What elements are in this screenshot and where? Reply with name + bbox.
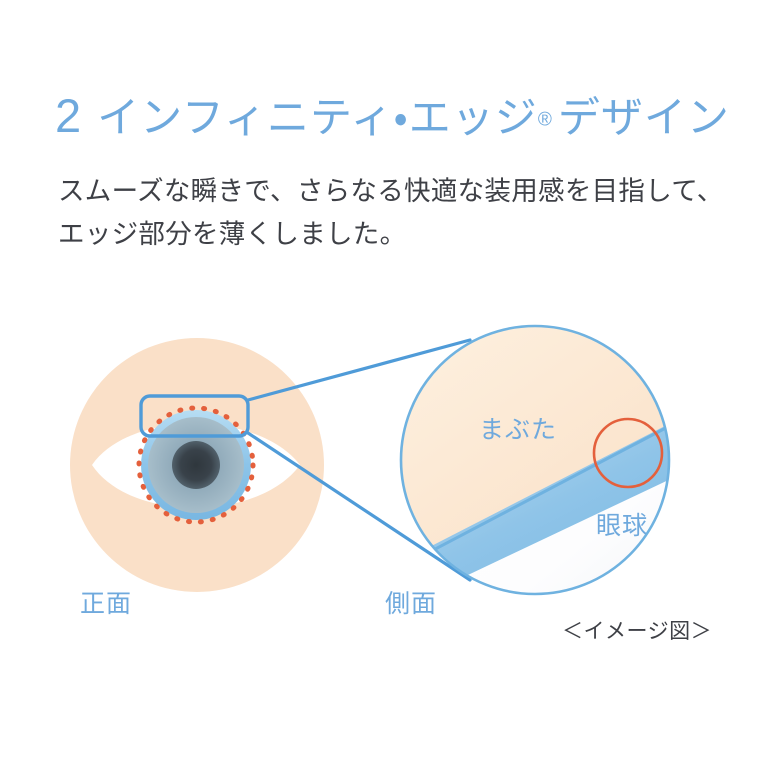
figure-caption: ＜イメージ図＞ [562,621,712,642]
pupil [172,441,220,489]
body-copy: スムーズな瞬きで、さらなる快適な装用感を目指して、 エッジ部分を薄くしました。 [58,170,698,256]
section-title-tail: デザイン [558,94,730,141]
registered-trademark-icon: ® [538,110,552,131]
side-view-label: 側面 [385,592,437,617]
infographic-page: 2 インフィニティ・エッジ®デザイン スムーズな瞬きで、さらなる快適な装用感を目… [0,0,770,770]
eyelid-label: まぶた [479,416,557,444]
section-title: インフィニティ・エッジ®デザイン [81,97,730,139]
front-view-group [70,338,324,592]
page-title: 2 インフィニティ・エッジ®デザイン [55,92,730,139]
section-title-main: インフィニティ・エッジ [97,94,538,141]
section-number: 2 [55,92,81,139]
body-copy-line-2: エッジ部分を薄くしました。 [58,213,698,256]
front-view-label: 正面 [80,592,132,617]
eyeball-label: 眼球 [596,512,648,540]
body-copy-line-1: スムーズな瞬きで、さらなる快適な装用感を目指して、 [58,170,698,213]
